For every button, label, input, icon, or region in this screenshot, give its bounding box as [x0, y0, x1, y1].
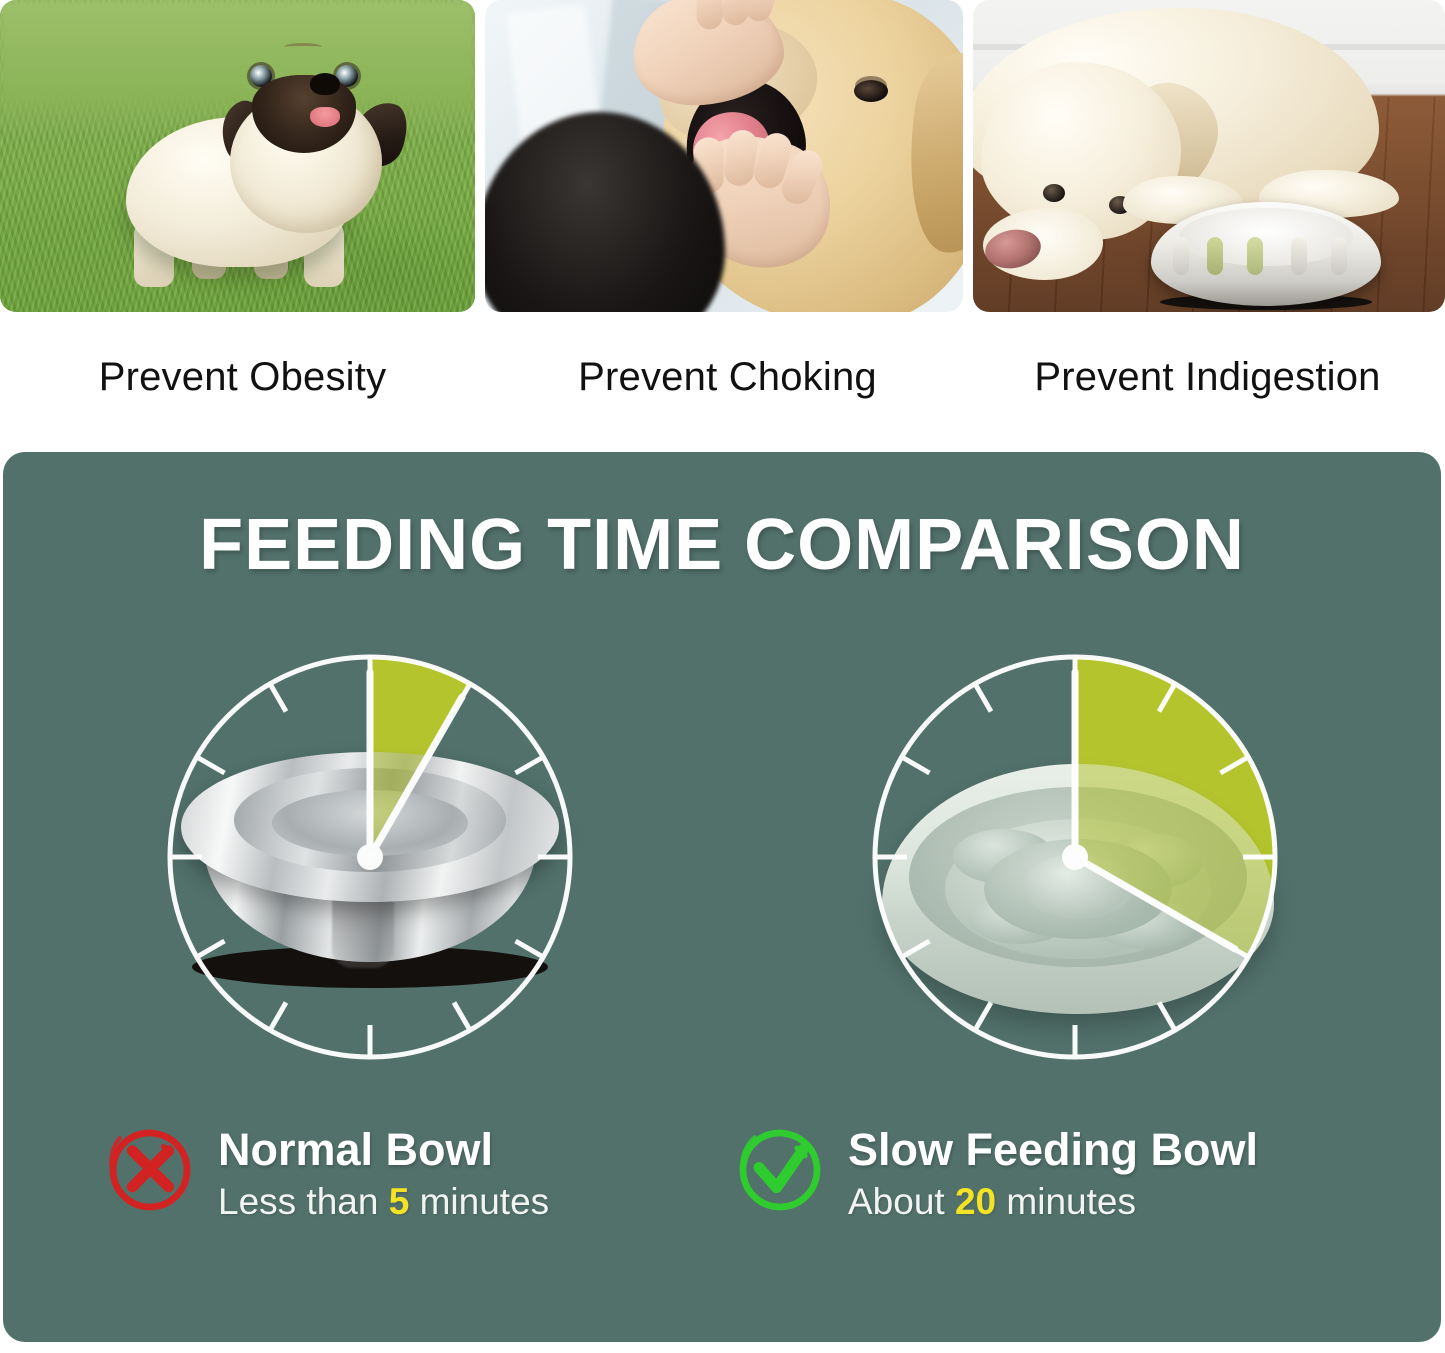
bowl-ridge: [1207, 237, 1223, 275]
comparison-legend: Normal Bowl Less than 5 minutes Slow Fee…: [3, 1124, 1441, 1264]
clock-comparison-row: [3, 642, 1441, 1082]
clock-outline-normal: [155, 642, 585, 1072]
pug-head: [230, 91, 382, 233]
legend-subtitle-suffix: minutes: [409, 1181, 549, 1222]
legend-title-slow-feeding-bowl: Slow Feeding Bowl: [848, 1126, 1258, 1174]
pug-forehead-wrinkle: [284, 43, 322, 51]
feeding-time-comparison-panel: FEEDING TIME COMPARISON: [3, 452, 1441, 1342]
legend-subtitle-value: 5: [389, 1181, 410, 1222]
legend-slow-feeding-bowl: Slow Feeding Bowl About 20 minutes: [738, 1124, 1258, 1224]
pug-tongue: [310, 107, 340, 127]
legend-subtitle-suffix: minutes: [996, 1181, 1136, 1222]
bowl-ridge: [1291, 237, 1307, 275]
cross-badge-icon: [108, 1128, 192, 1212]
clock-normal-bowl: [155, 642, 585, 1072]
pug-nose: [310, 73, 340, 95]
legend-subtitle-value: 20: [955, 1181, 996, 1222]
benefit-photo-prevent-choking: [485, 0, 963, 312]
retriever-eye: [854, 80, 888, 102]
infographic-root: Prevent Obesity Prevent Choking Prevent …: [0, 0, 1445, 1353]
bowl-ridge: [1173, 237, 1189, 275]
bowl-ridge: [1247, 237, 1263, 275]
benefit-caption-prevent-choking: Prevent Choking: [485, 312, 970, 442]
legend-title-normal-bowl: Normal Bowl: [218, 1126, 549, 1174]
benefit-caption-row: Prevent Obesity Prevent Choking Prevent …: [0, 312, 1445, 442]
pug-muzzle: [252, 75, 356, 153]
bowl-ridge: [1331, 237, 1347, 275]
legend-text-block: Slow Feeding Bowl About 20 minutes: [848, 1124, 1258, 1224]
clock-slow-feeding-bowl: [860, 642, 1290, 1072]
legend-text-block: Normal Bowl Less than 5 minutes: [218, 1124, 549, 1224]
legend-subtitle-normal-bowl: Less than 5 minutes: [218, 1180, 549, 1224]
benefit-photo-prevent-obesity: [0, 0, 475, 312]
benefit-caption-prevent-obesity: Prevent Obesity: [0, 312, 485, 442]
benefit-caption-prevent-indigestion: Prevent Indigestion: [970, 312, 1445, 442]
finger: [697, 0, 723, 29]
benefit-photo-strip: [0, 0, 1445, 312]
labrador-eye: [1043, 184, 1065, 202]
legend-subtitle-slow-feeding-bowl: About 20 minutes: [848, 1180, 1258, 1224]
panel-title: FEEDING TIME COMPARISON: [3, 504, 1441, 586]
legend-subtitle-prefix: Less than: [218, 1181, 389, 1222]
check-badge-icon: [738, 1128, 822, 1212]
benefit-photo-prevent-indigestion: [973, 0, 1445, 312]
legend-normal-bowl: Normal Bowl Less than 5 minutes: [108, 1124, 549, 1224]
legend-subtitle-prefix: About: [848, 1181, 955, 1222]
retriever-ear: [896, 47, 963, 260]
slow-feeder-bowl-photo: [1151, 202, 1381, 306]
clock-outline-slow: [860, 642, 1290, 1072]
